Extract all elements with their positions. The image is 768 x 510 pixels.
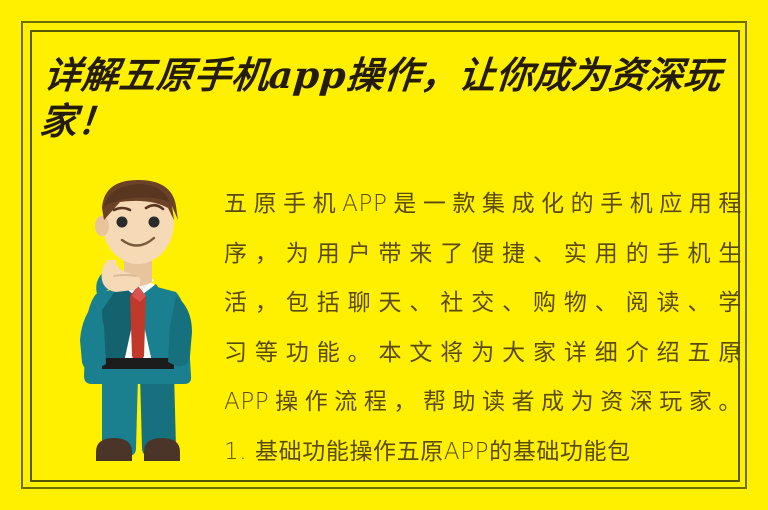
left-shoe <box>96 438 132 461</box>
article-line: 活，包括聊天、社交、购物、阅读、学 <box>224 279 742 329</box>
right-shoe <box>144 438 180 461</box>
right-eye <box>149 217 160 228</box>
article-line: 1. 基础功能操作五原APP的基础功能包 <box>224 428 742 478</box>
article-line: APP操作流程，帮助读者成为资深玩家。 <box>224 378 742 428</box>
thinking-businessman-illustration <box>58 176 218 476</box>
businessman-svg <box>58 176 218 476</box>
article-line: 五原手机APP是一款集成化的手机应用程 <box>224 180 742 230</box>
finger-crease <box>114 275 136 276</box>
left-eye <box>117 217 128 228</box>
article-line: 习等功能。本文将为大家详细介绍五原 <box>224 329 742 379</box>
ear <box>95 216 109 236</box>
article-line: 序，为用户带来了便捷、实用的手机生 <box>224 230 742 280</box>
belt <box>102 358 174 369</box>
poster-canvas: 详解五原手机app操作，让你成为资深玩家！ <box>0 0 768 510</box>
page-title: 详解五原手机app操作，让你成为资深玩家！ <box>38 52 740 144</box>
article-body: 五原手机APP是一款集成化的手机应用程 序，为用户带来了便捷、实用的手机生 活，… <box>224 180 742 477</box>
